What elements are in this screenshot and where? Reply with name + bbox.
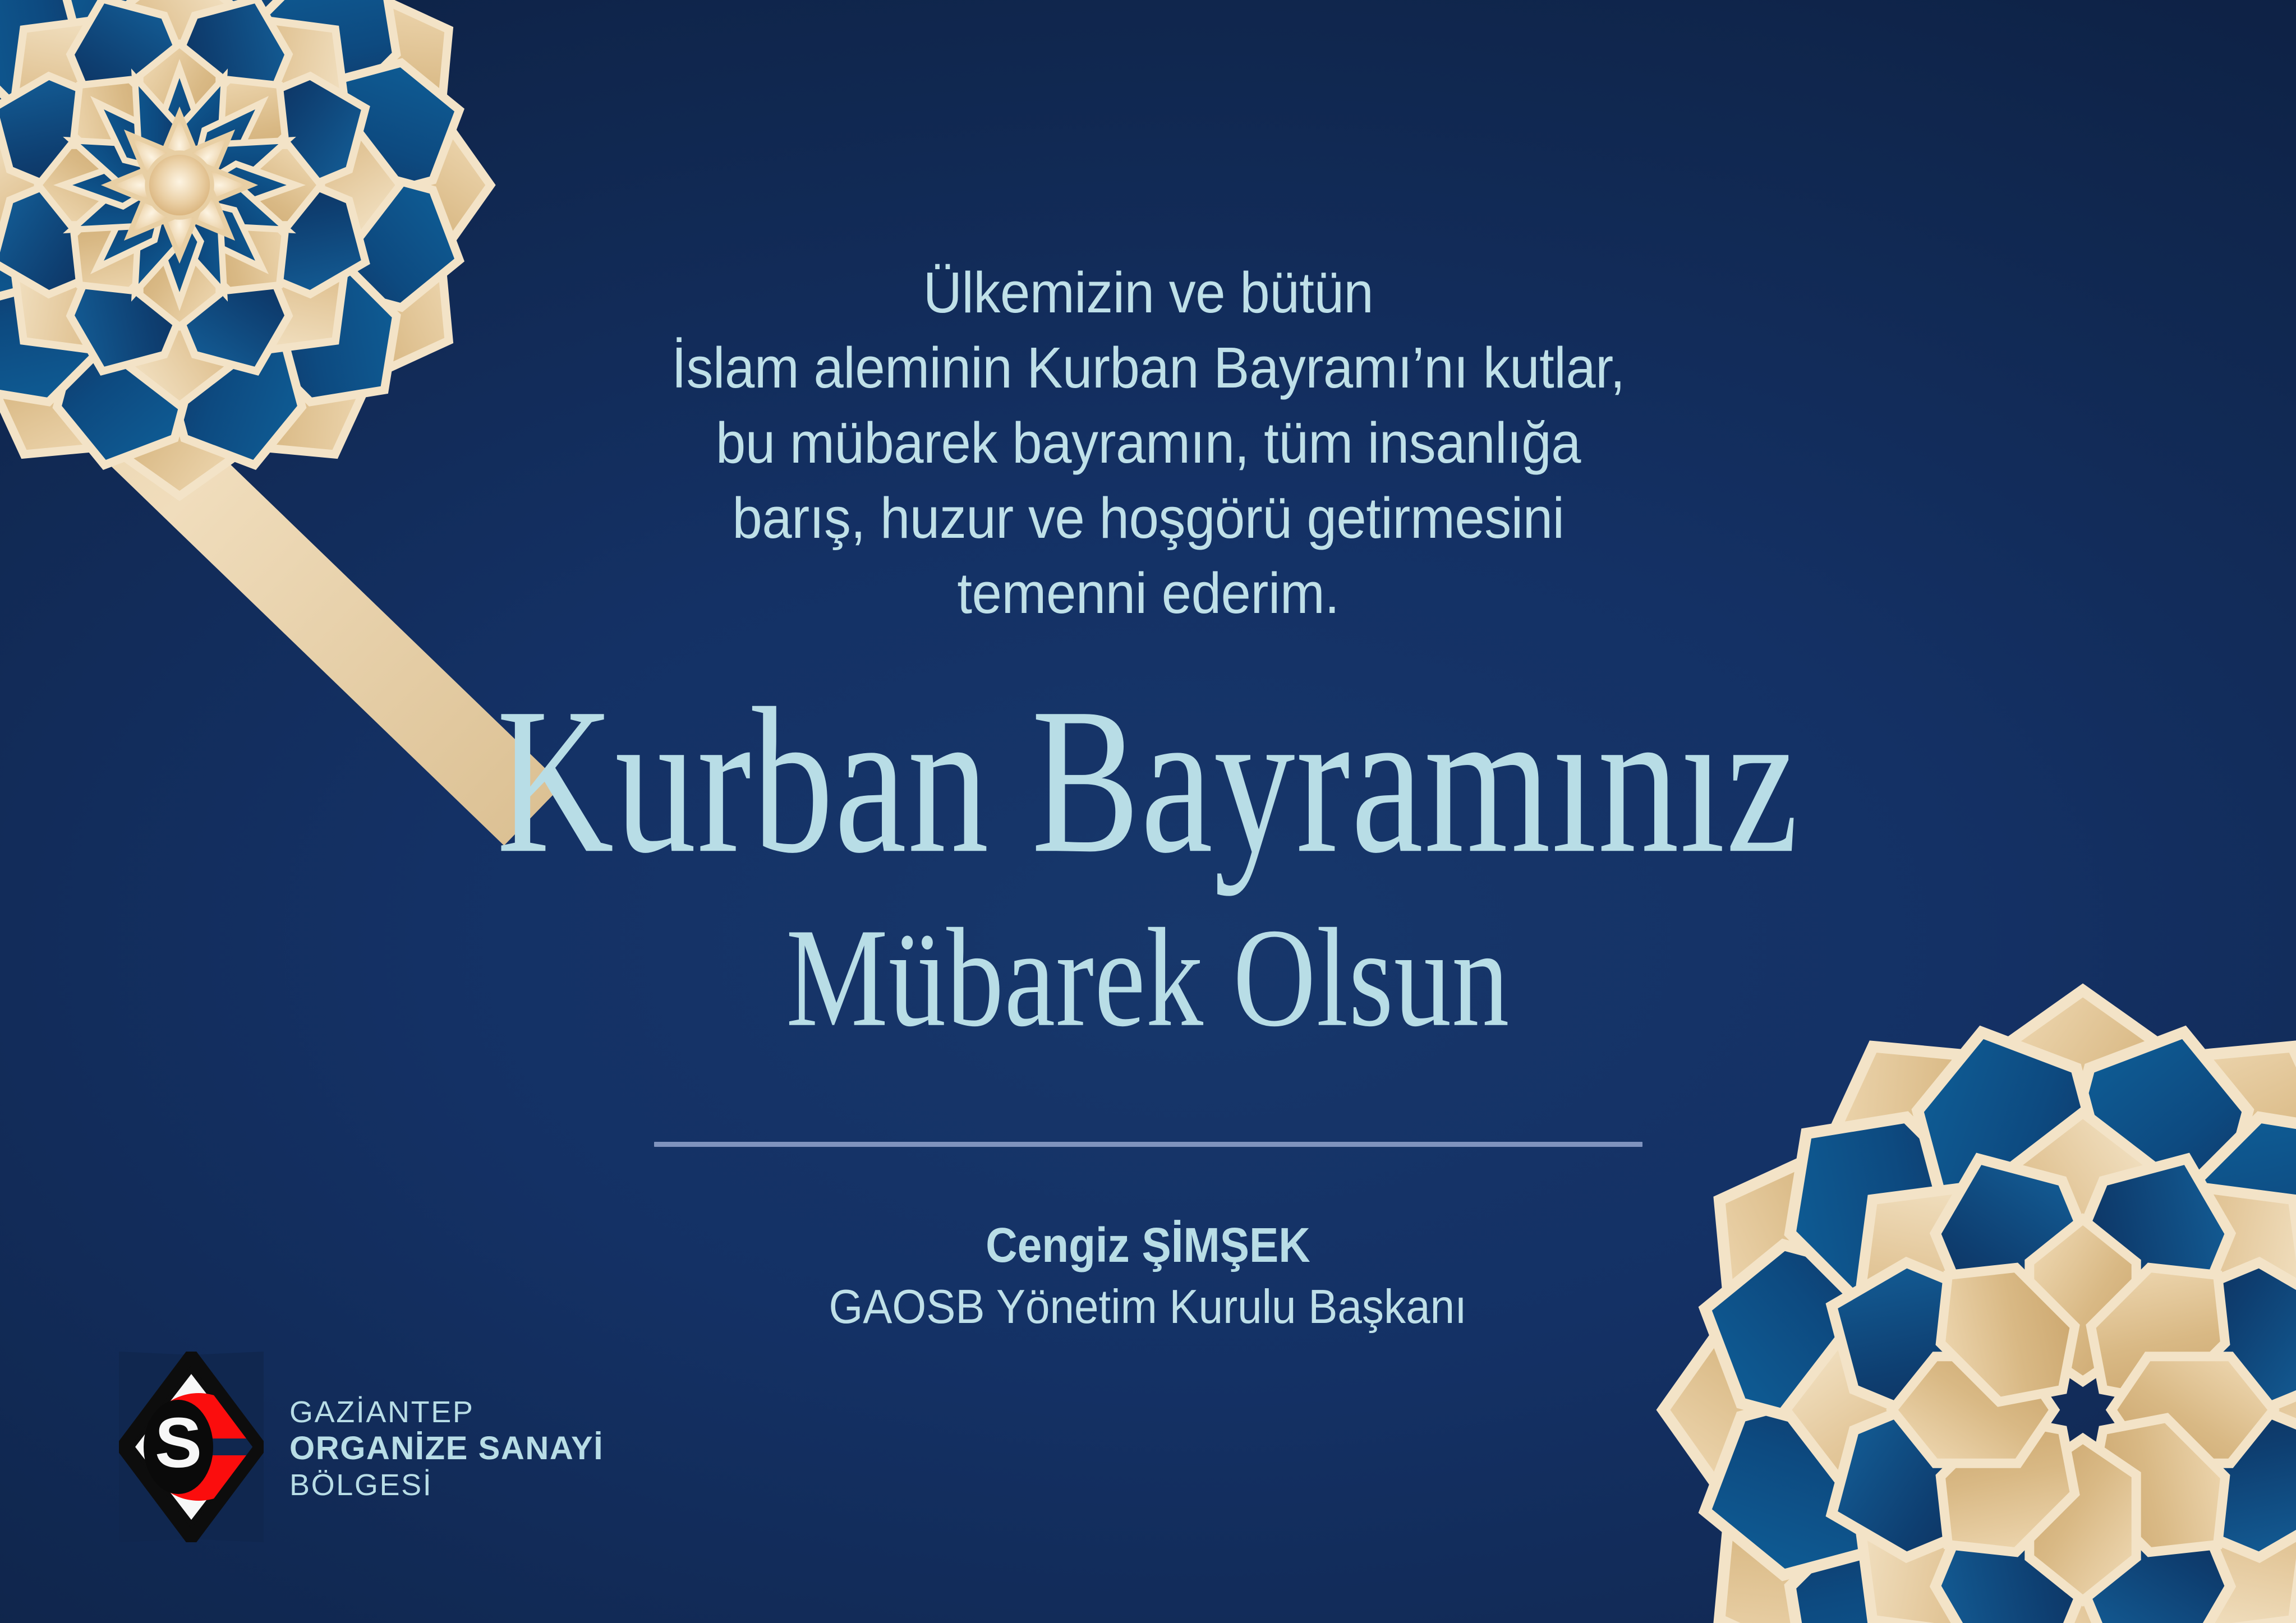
logo-line-2: ORGANİZE SANAYİ <box>289 1430 604 1467</box>
logo-line-3: BÖLGESİ <box>289 1468 604 1503</box>
message-line-2: İslam aleminin Kurban Bayramı’nı kutlar, <box>522 330 1774 405</box>
signature-title: GAOSB Yönetim Kurulu Başkanı <box>419 1283 1878 1331</box>
greeting-message: Ülkemizin ve bütün İslam aleminin Kurban… <box>475 255 1821 630</box>
signature-title-text: GAOSB Yönetim Kurulu Başkanı <box>829 1283 1467 1331</box>
gaosb-logo-wordmark: GAZİANTEP ORGANİZE SANAYİ BÖLGESİ <box>289 1391 604 1503</box>
gaosb-diamond-s-c-logo-icon: S <box>119 1352 264 1542</box>
message-line-5: temenni ederim. <box>522 556 1774 631</box>
message-line-3: bu mübarek bayramın, tüm insanlığa <box>522 405 1774 481</box>
headline-primary: Kurban Bayramınız <box>167 684 2130 878</box>
logo-line-1: GAZİANTEP <box>289 1395 604 1430</box>
headline-secondary: Mübarek Olsun <box>167 911 2130 1045</box>
message-line-4: barış, huzur ve hoşgörü getirmesini <box>522 481 1774 556</box>
horizontal-divider <box>654 1142 1642 1147</box>
greeting-card: Ülkemizin ve bütün İslam aleminin Kurban… <box>0 0 2296 1623</box>
gaosb-logo: S GAZİANTEP ORGANİZE SANAYİ BÖLGESİ <box>119 1346 680 1548</box>
headline-secondary-text: Mübarek Olsun <box>786 907 1510 1049</box>
headline-primary-text: Kurban Bayramınız <box>496 676 1799 886</box>
card-content: Ülkemizin ve bütün İslam aleminin Kurban… <box>0 0 2296 1623</box>
signature-name: Cengiz ŞİMŞEK <box>475 1221 1821 1270</box>
signature-name-text: Cengiz ŞİMŞEK <box>986 1221 1310 1270</box>
svg-text:S: S <box>155 1403 202 1482</box>
message-line-1: Ülkemizin ve bütün <box>522 255 1774 330</box>
